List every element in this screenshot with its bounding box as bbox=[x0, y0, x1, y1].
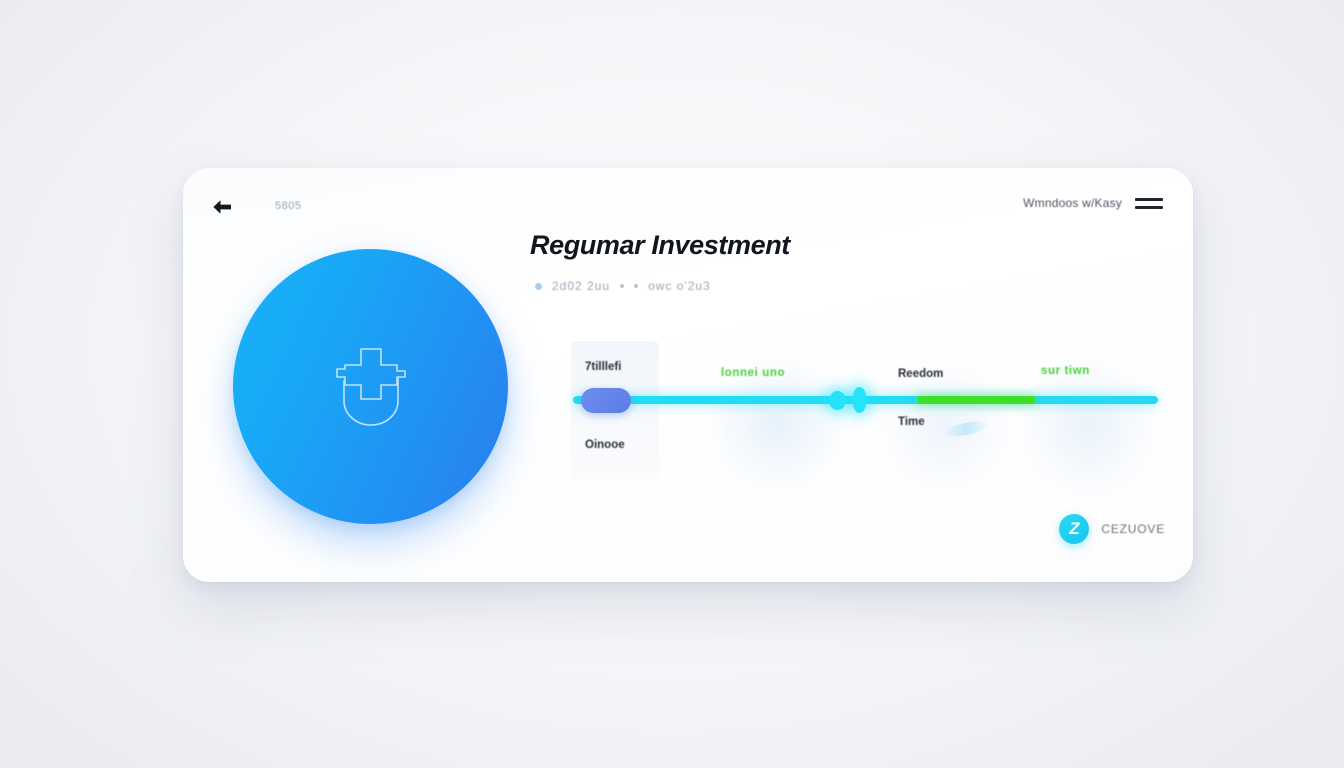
subtitle-part-1: 2d02 2uu bbox=[552, 279, 610, 293]
slider-knob-secondary[interactable] bbox=[853, 387, 866, 413]
breadcrumb[interactable]: 5805 bbox=[275, 200, 301, 212]
slider-label-mid-top: Reedom bbox=[898, 368, 943, 380]
subtitle-bullet-icon bbox=[535, 283, 542, 290]
menu-line-2 bbox=[1135, 206, 1163, 209]
decor-bloom-b bbox=[873, 353, 1018, 498]
brand-badge[interactable]: Z CEZUOVE bbox=[1059, 514, 1165, 544]
hamburger-menu-icon[interactable] bbox=[1135, 196, 1163, 210]
decor-swoosh bbox=[942, 418, 989, 439]
slider-label-mid-bottom: Time bbox=[898, 416, 925, 428]
slider-label-top-left: 7tilllefi bbox=[585, 361, 621, 373]
brand-logo-icon: Z bbox=[1059, 514, 1089, 544]
slider-label-green-left: lonnei uno bbox=[721, 367, 785, 379]
investment-card: 5805 Wmndoos w/Kasy Regumar Investment 2… bbox=[183, 168, 1193, 582]
subtitle-part-2: owc o'2u3 bbox=[648, 279, 711, 293]
slider-filled-segment bbox=[918, 396, 1035, 404]
hero-brand-circle bbox=[233, 249, 508, 524]
slider-pill-handle[interactable] bbox=[581, 388, 631, 413]
subtitle-dot-icon-a bbox=[620, 284, 624, 288]
arrow-left-icon bbox=[210, 197, 234, 217]
investment-slider[interactable]: 7tilllefi Oinooe lonnei uno Reedom Time … bbox=[573, 343, 1158, 483]
slider-knob-primary[interactable] bbox=[829, 391, 846, 410]
slider-label-green-right: sur tiwn bbox=[1041, 365, 1090, 377]
subtitle-row: 2d02 2uu owc o'2u3 bbox=[535, 279, 711, 293]
menu-line-1 bbox=[1135, 198, 1163, 201]
subtitle-dot-icon-b bbox=[634, 284, 638, 288]
page-title: Regumar Investment bbox=[530, 230, 790, 261]
slider-label-bottom-left: Oinooe bbox=[585, 439, 625, 451]
window-status-label: Wmndoos w/Kasy bbox=[1023, 196, 1122, 210]
plus-bowl-outline-icon bbox=[323, 341, 419, 433]
back-button[interactable] bbox=[207, 194, 237, 220]
topbar-right-group: Wmndoos w/Kasy bbox=[1023, 196, 1163, 210]
brand-label: CEZUOVE bbox=[1101, 522, 1165, 536]
